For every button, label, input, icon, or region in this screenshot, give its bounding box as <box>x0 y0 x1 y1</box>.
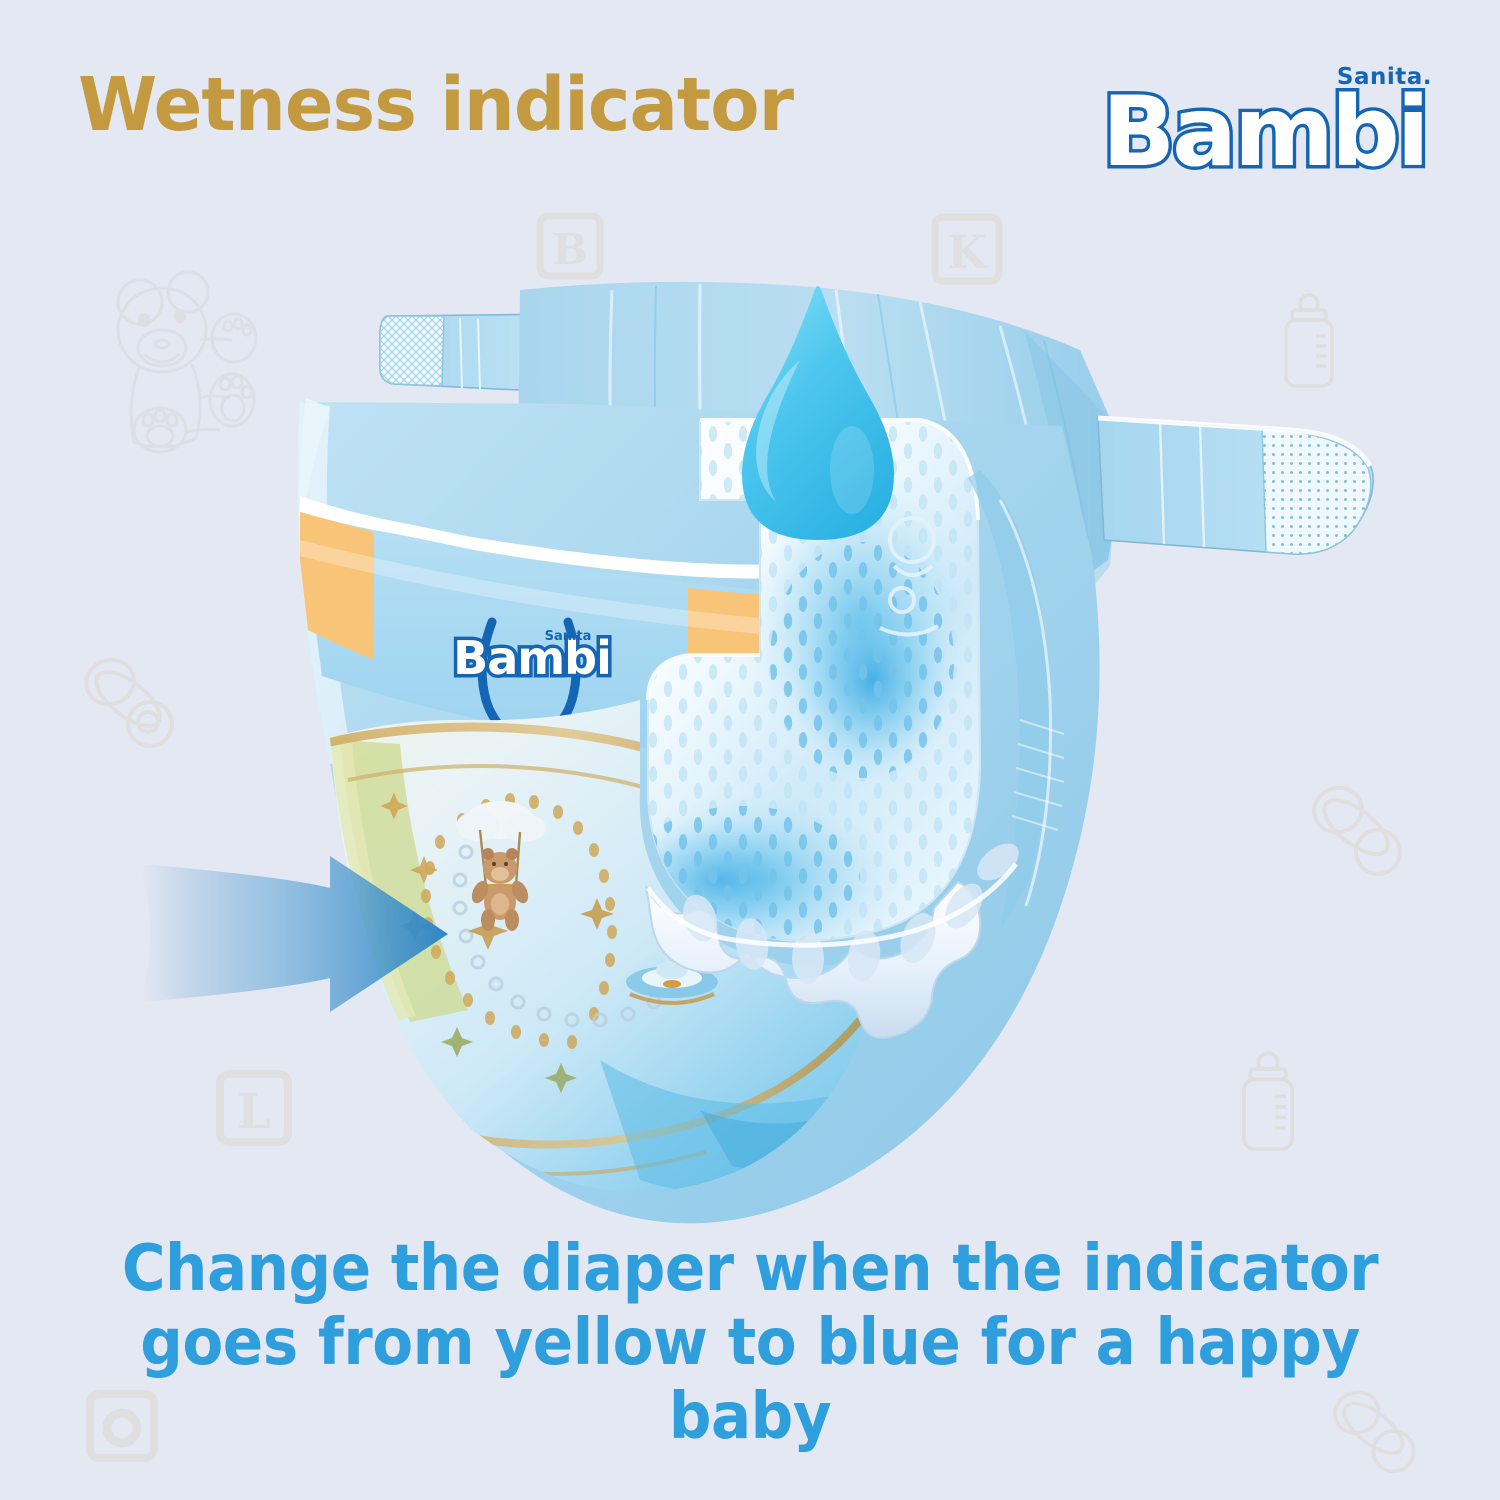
svg-text:Sanita: Sanita <box>545 629 592 644</box>
caption-text: Change the diaper when the indicator goe… <box>53 1232 1448 1455</box>
caption-line-2: goes from yellow to blue for a happy bab… <box>53 1306 1448 1454</box>
diaper-tab-right <box>1098 418 1373 554</box>
product-feature-image: B K <box>0 0 1500 1500</box>
caption-line-1: Change the diaper when the indicator <box>53 1232 1448 1306</box>
